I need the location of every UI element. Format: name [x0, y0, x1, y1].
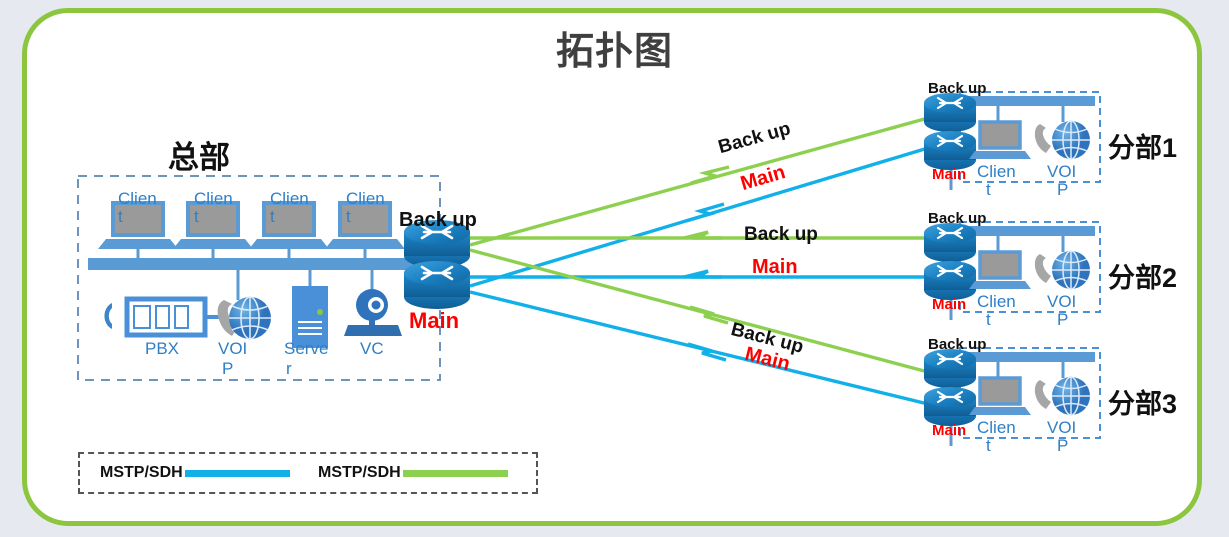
branch1-title: 分部1: [1108, 126, 1177, 165]
branch1-voip-label-b: P: [1057, 181, 1068, 199]
hq-client-label-2: Clien: [194, 190, 233, 208]
hq-client-laptop: [173, 203, 253, 249]
link-backup-branch2: [470, 232, 928, 238]
link-main-branch1: [470, 148, 928, 286]
branch1-client-label: Clien: [977, 163, 1016, 181]
branch1-voip-icon: [1035, 121, 1090, 159]
branch1-backup-router: [924, 93, 976, 132]
legend-item-backup: MSTP/SDH: [318, 464, 508, 482]
branch1-client-laptop: [969, 122, 1031, 159]
hq-device-label-voip-b: P: [222, 360, 233, 378]
branch3-client-label: Clien: [977, 419, 1016, 437]
hq-client-label-1b: t: [118, 208, 123, 226]
hq-client-label-4b: t: [346, 208, 351, 226]
legend-swatch-backup: [403, 470, 508, 477]
link-backup-branch1: [470, 118, 928, 245]
branch3-voip-label: VOI: [1047, 419, 1076, 437]
hq-client-droplines: [138, 241, 372, 300]
hq-client-label-4: Clien: [346, 190, 385, 208]
branch3-voip-icon: [1035, 377, 1090, 415]
legend: MSTP/SDH MSTP/SDH: [78, 452, 538, 494]
hq-client-label-1: Clien: [118, 190, 157, 208]
link-label-backup-2: Back up: [744, 224, 818, 246]
branch2-voip-icon: [1035, 251, 1090, 289]
hq-client-label-3b: t: [270, 208, 275, 226]
hq-device-label-server-b: r: [286, 360, 292, 378]
hq-device-label-server: Serve: [284, 340, 328, 358]
branch-bus-3: [960, 352, 1095, 362]
branch2-main-router: [924, 261, 976, 300]
hq-client-label-2b: t: [194, 208, 199, 226]
hq-title: 总部: [168, 132, 230, 177]
branch3-backup-router: [924, 349, 976, 388]
hq-bus: [88, 258, 440, 270]
legend-label-backup: MSTP/SDH: [318, 464, 401, 482]
hq-device-label-vc: VC: [360, 340, 384, 358]
branch-bus-2: [960, 226, 1095, 236]
branch3-voip-label-b: P: [1057, 437, 1068, 455]
link-label-main-2: Main: [752, 256, 798, 279]
branch1-main-router: [924, 131, 976, 170]
branch1-backup-tag: Back up: [928, 80, 986, 97]
branch2-voip-label-b: P: [1057, 311, 1068, 329]
page-title: 拓扑图: [0, 20, 1229, 75]
videoconference-camera-icon: [344, 289, 402, 336]
branch2-backup-tag: Back up: [928, 210, 986, 227]
branch2-client-label-b: t: [986, 311, 991, 329]
hq-device-label-voip: VOI: [218, 340, 247, 358]
branch2-backup-router: [924, 223, 976, 262]
branch1-client-label-b: t: [986, 181, 991, 199]
branch3-main-router: [924, 387, 976, 426]
branch3-title: 分部3: [1108, 382, 1177, 421]
hq-client-laptop: [98, 203, 178, 249]
branch3-backup-tag: Back up: [928, 336, 986, 353]
hq-client-laptop: [325, 203, 405, 249]
branch2-client-label: Clien: [977, 293, 1016, 311]
branch2-main-tag: Main: [932, 296, 966, 313]
branch-bus-1: [960, 96, 1095, 106]
branch3-client-laptop: [969, 378, 1031, 415]
pbx-icon: [104, 299, 226, 335]
hq-client-laptop: [249, 203, 329, 249]
hq-main-router: [404, 261, 470, 309]
branch3-client-label-b: t: [986, 437, 991, 455]
link-backup-branch3: [470, 250, 928, 372]
link-main-branch2: [470, 271, 928, 277]
legend-swatch-main: [185, 470, 290, 477]
hq-backup-tag: Back up: [399, 209, 477, 232]
branch1-main-tag: Main: [932, 166, 966, 183]
voip-icon: [218, 297, 271, 339]
hq-client-label-3: Clien: [270, 190, 309, 208]
branch2-voip-label: VOI: [1047, 293, 1076, 311]
branch2-title: 分部2: [1108, 256, 1177, 295]
legend-item-main: MSTP/SDH: [100, 464, 290, 482]
hq-device-label-pbx: PBX: [145, 340, 179, 358]
topology-diagram: 拓扑图 总部 Clien t Clien t Clien t Clien t P…: [0, 0, 1229, 537]
legend-label-main: MSTP/SDH: [100, 464, 183, 482]
hq-main-tag: Main: [409, 308, 459, 334]
branch2-client-laptop: [969, 252, 1031, 289]
branch3-main-tag: Main: [932, 422, 966, 439]
branch1-voip-label: VOI: [1047, 163, 1076, 181]
